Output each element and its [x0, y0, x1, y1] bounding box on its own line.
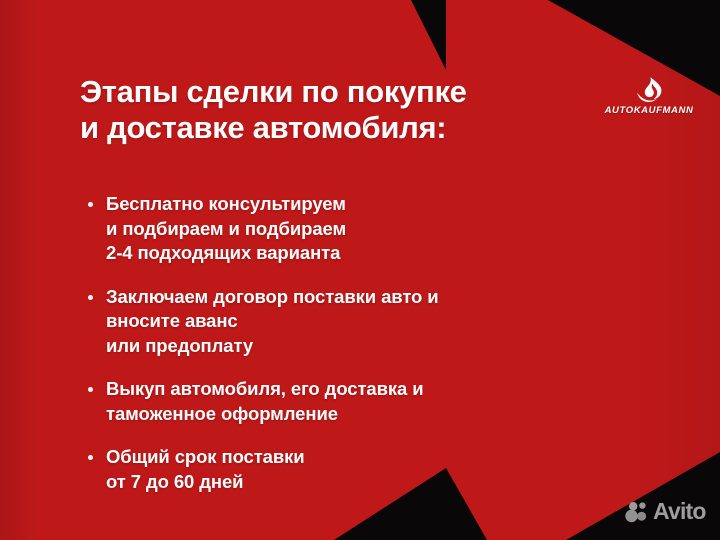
title-line-2: и доставке автомобиля: [80, 110, 600, 146]
bullet-1-line-3: 2-4 подходящих варианта [106, 241, 642, 266]
flame-swirl-icon [634, 76, 664, 104]
brand-name: AUTOKAUFMANN [597, 105, 701, 116]
list-item: Выкуп автомобиля, его доставка и таможен… [82, 377, 642, 426]
steps-list: Бесплатно консультируем и подбираем и по… [82, 192, 642, 494]
list-item: Бесплатно консультируем и подбираем и по… [82, 192, 642, 266]
bullet-1-line-1: Бесплатно консультируем [106, 192, 642, 217]
bullet-dot-icon [88, 295, 93, 300]
avito-watermark-text: Avito [653, 500, 706, 523]
bullet-4-line-2: от 7 до 60 дней [106, 470, 642, 495]
bullet-2-line-2: вносите аванс [106, 309, 642, 334]
bullet-dot-icon [88, 202, 93, 207]
bullet-3-line-2: таможенное оформление [106, 402, 642, 427]
list-item: Общий срок поставки от 7 до 60 дней [82, 445, 642, 494]
bullet-3-line-1: Выкуп автомобиля, его доставка и [106, 377, 642, 402]
page-title: Этапы сделки по покупке и доставке автом… [80, 74, 600, 146]
promo-banner: Этапы сделки по покупке и доставке автом… [0, 0, 720, 540]
avito-watermark: Avito [625, 500, 706, 523]
title-line-1: Этапы сделки по покупке [80, 74, 600, 110]
bullet-dot-icon [88, 455, 93, 460]
bullet-4-line-1: Общий срок поставки [106, 445, 642, 470]
bullet-dot-icon [88, 387, 93, 392]
list-item: Заключаем договор поставки авто и вносит… [82, 285, 642, 359]
bullet-2-line-1: Заключаем договор поставки авто и [106, 285, 642, 310]
bullet-1-line-2: и подбираем и подбираем [106, 217, 642, 242]
bullet-2-line-3: или предоплату [106, 334, 642, 359]
avito-dots-icon [625, 501, 649, 523]
brand-logo: AUTOKAUFMANN [597, 76, 701, 116]
